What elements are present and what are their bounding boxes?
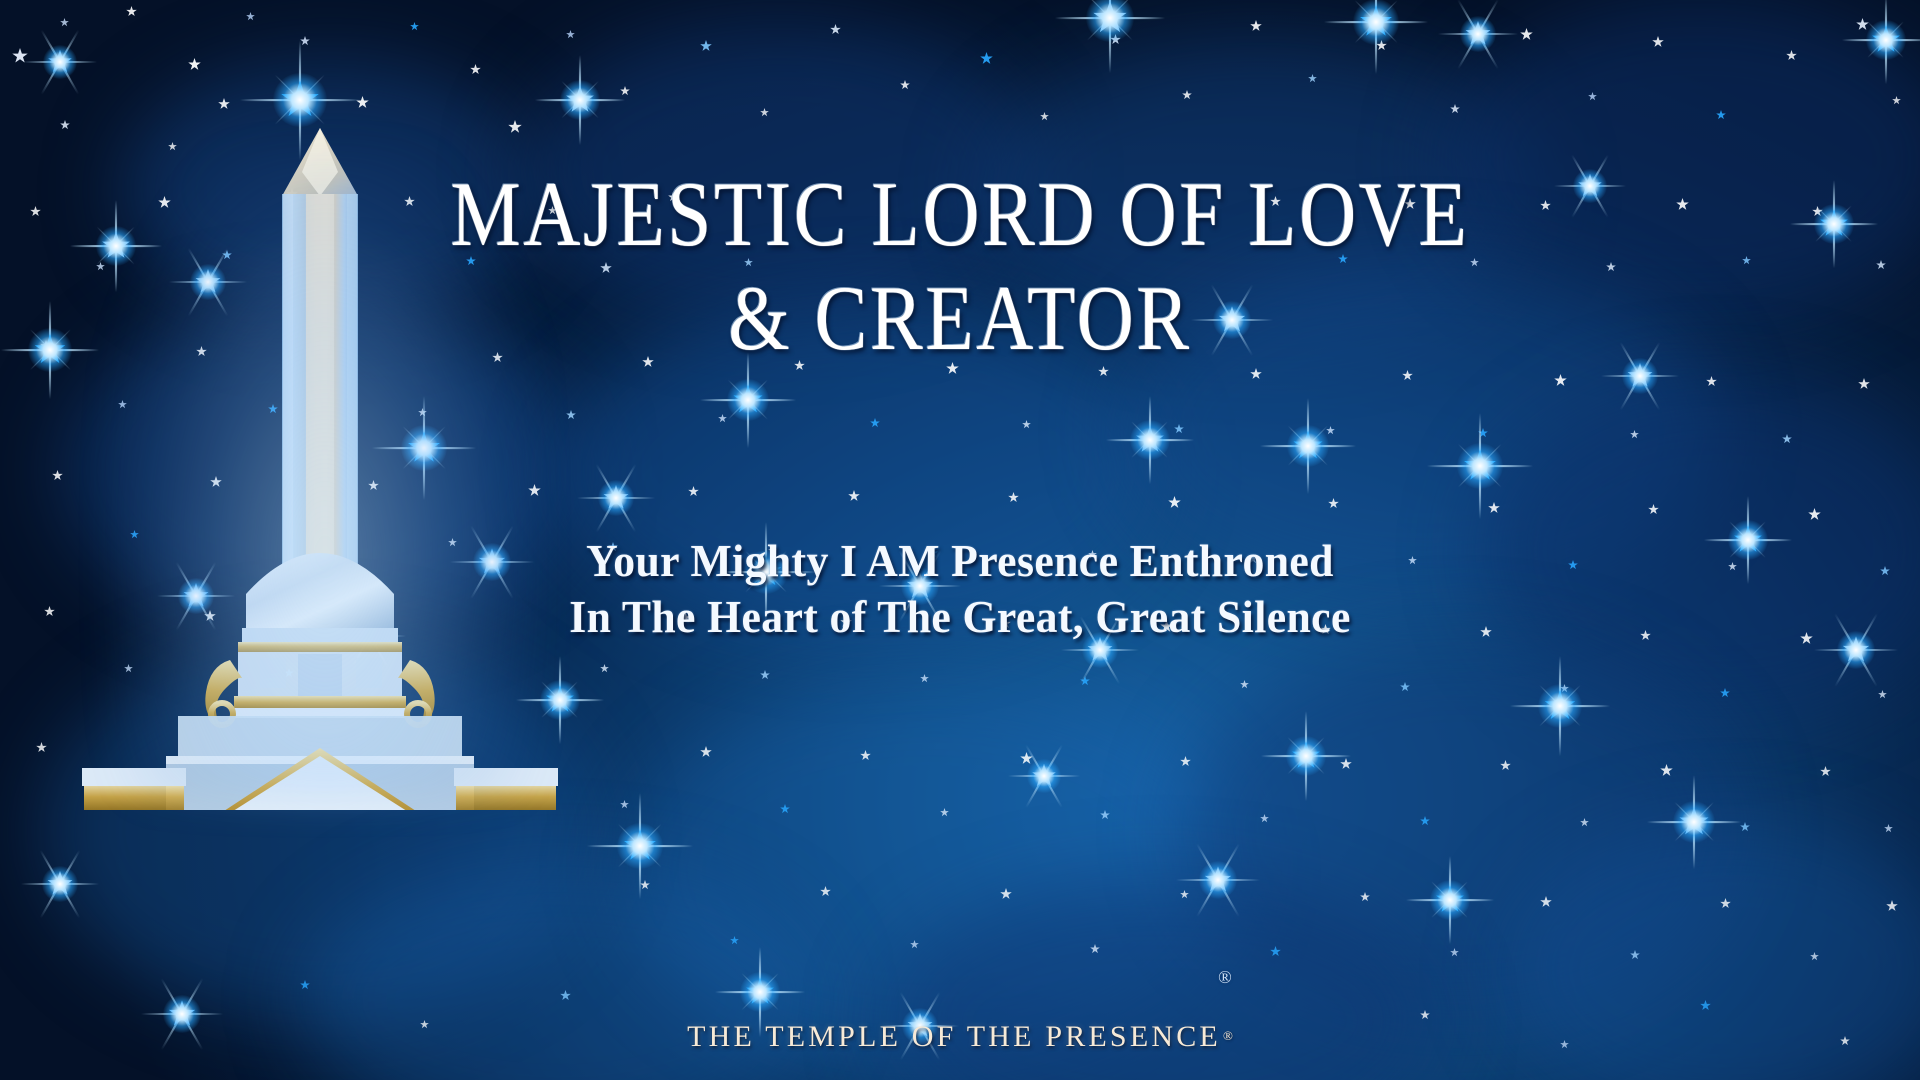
star-glyph xyxy=(1588,92,1597,101)
star-glyph xyxy=(1360,892,1370,902)
star-glyph xyxy=(1858,378,1870,390)
star-glyph xyxy=(1560,684,1569,693)
star-glyph xyxy=(1876,260,1886,270)
star-glyph xyxy=(700,40,712,52)
sparkle-star-icon xyxy=(1647,775,1741,869)
star-glyph xyxy=(12,48,28,64)
star-glyph xyxy=(36,742,47,753)
star-glyph xyxy=(700,746,712,758)
sparkle-star-icon xyxy=(1438,0,1518,74)
star-glyph xyxy=(620,86,630,96)
star-glyph xyxy=(1660,764,1673,777)
star-glyph xyxy=(508,120,522,134)
star-glyph xyxy=(284,668,294,678)
sparkle-star-icon xyxy=(372,396,476,500)
star-glyph xyxy=(1488,502,1500,514)
sparkle-star-icon xyxy=(516,656,604,744)
star-glyph xyxy=(1022,420,1031,429)
sparkle-star-icon xyxy=(1008,740,1080,812)
star-glyph xyxy=(760,108,769,117)
star-glyph xyxy=(418,408,427,417)
star-glyph xyxy=(1308,74,1317,83)
star-glyph xyxy=(356,96,369,109)
sparkle-star-icon xyxy=(1261,711,1351,801)
star-glyph xyxy=(60,18,69,27)
star-glyph xyxy=(760,670,770,680)
star-glyph xyxy=(848,490,860,502)
star-glyph xyxy=(940,808,949,817)
banner-canvas: MAJESTIC LORD OF LOVE & CREATOR Your Mig… xyxy=(0,0,1920,1080)
star-glyph xyxy=(1892,96,1901,105)
star-glyph xyxy=(96,262,105,271)
star-glyph xyxy=(1000,888,1012,900)
star-glyph xyxy=(1450,104,1460,114)
star-glyph xyxy=(560,990,571,1001)
nebula-blob xyxy=(620,680,1240,1060)
sparkle-star-icon xyxy=(1510,656,1610,756)
star-glyph xyxy=(126,6,137,17)
star-glyph xyxy=(1500,760,1511,771)
star-glyph xyxy=(566,410,576,420)
star-glyph xyxy=(1090,944,1100,954)
star-glyph xyxy=(1720,688,1730,698)
star-glyph xyxy=(870,418,880,428)
sparkle-star-icon xyxy=(1260,398,1356,494)
star-glyph xyxy=(1420,816,1430,826)
brand-name-text: THE TEMPLE OF THE PRESENCE xyxy=(687,1020,1221,1054)
star-glyph xyxy=(1820,766,1831,777)
star-glyph xyxy=(118,400,127,409)
star-glyph xyxy=(1100,810,1110,820)
registered-trademark-mark: ® xyxy=(1213,965,1237,989)
star-glyph xyxy=(168,142,177,151)
sparkle-star-icon xyxy=(1106,396,1194,484)
star-glyph xyxy=(1648,504,1659,515)
star-glyph xyxy=(1706,376,1717,387)
sparkle-star-icon xyxy=(535,55,625,145)
star-glyph xyxy=(1700,1000,1711,1011)
star-glyph xyxy=(1260,814,1269,823)
star-glyph xyxy=(1376,40,1387,51)
subtitle-line-1: Your Mighty I AM Presence Enthroned xyxy=(48,538,1872,584)
star-glyph xyxy=(30,206,41,217)
star-glyph xyxy=(218,98,230,110)
star-glyph xyxy=(1008,492,1019,503)
star-glyph xyxy=(1240,680,1249,689)
star-glyph xyxy=(1402,370,1413,381)
star-glyph xyxy=(718,414,727,423)
star-glyph xyxy=(1478,428,1488,438)
star-glyph xyxy=(1812,206,1823,217)
star-glyph xyxy=(188,58,201,71)
star-glyph xyxy=(1270,946,1281,957)
temple-right-wing xyxy=(446,768,564,810)
temple-main-block xyxy=(166,716,474,810)
star-glyph xyxy=(268,404,278,414)
star-glyph xyxy=(40,340,52,352)
sparkle-star-icon xyxy=(1842,0,1920,84)
sparkle-star-icon xyxy=(23,25,97,99)
nebula-blob xyxy=(1180,640,1740,1020)
star-glyph xyxy=(1740,822,1750,832)
star-glyph xyxy=(1250,368,1262,380)
star-glyph xyxy=(830,24,841,35)
star-glyph xyxy=(1630,950,1640,960)
star-glyph xyxy=(124,664,133,673)
star-glyph xyxy=(1810,952,1819,961)
brand-lockup: THE TEMPLE OF THE PRESENCE® xyxy=(0,1020,1920,1054)
star-glyph xyxy=(688,486,699,497)
star-glyph xyxy=(300,36,310,46)
star-glyph xyxy=(1182,90,1192,100)
star-glyph xyxy=(52,470,63,481)
sparkle-star-icon xyxy=(1176,838,1260,922)
star-glyph xyxy=(1020,752,1033,765)
sparkle-star-icon xyxy=(1055,0,1165,73)
star-glyph xyxy=(1856,18,1869,31)
temple-left-wing xyxy=(76,768,194,810)
star-glyph xyxy=(1606,262,1616,272)
star-glyph xyxy=(566,30,575,39)
star-glyph xyxy=(980,52,993,65)
sparkle-star-icon xyxy=(1790,180,1878,268)
star-glyph xyxy=(1328,498,1339,509)
star-glyph xyxy=(1450,948,1459,957)
star-glyph xyxy=(910,940,919,949)
star-glyph xyxy=(1250,20,1262,32)
sparkle-star-icon xyxy=(21,845,99,923)
star-glyph xyxy=(1110,34,1121,45)
star-glyph xyxy=(528,484,541,497)
star-glyph xyxy=(1326,426,1335,435)
star-glyph xyxy=(1180,890,1189,899)
star-glyph xyxy=(1040,112,1049,121)
sparkle-star-icon xyxy=(577,459,655,537)
star-glyph xyxy=(780,804,790,814)
star-glyph xyxy=(470,64,481,75)
sparkle-star-icon xyxy=(587,793,693,899)
star-glyph xyxy=(1720,898,1731,909)
star-glyph xyxy=(300,980,310,990)
headline-line-1: MAJESTIC LORD OF LOVE xyxy=(134,168,1785,260)
star-glyph xyxy=(640,880,650,890)
star-glyph xyxy=(1580,818,1589,827)
star-glyph xyxy=(1786,50,1797,61)
star-glyph xyxy=(1878,690,1887,699)
star-glyph xyxy=(1884,824,1893,833)
star-glyph xyxy=(730,936,739,945)
star-glyph xyxy=(1174,424,1184,434)
star-glyph xyxy=(1808,508,1821,521)
star-glyph xyxy=(1340,758,1352,770)
star-glyph xyxy=(920,674,929,683)
subtitle-line-2: In The Heart of The Great, Great Silence xyxy=(48,594,1872,640)
brand-registered-mark: ® xyxy=(1223,1028,1233,1044)
star-glyph xyxy=(410,22,419,31)
sparkle-star-icon xyxy=(1427,413,1533,519)
sparkle-star-icon xyxy=(240,40,360,160)
star-glyph xyxy=(210,476,222,488)
star-glyph xyxy=(1520,28,1533,41)
star-glyph xyxy=(1630,430,1639,439)
star-glyph xyxy=(1400,682,1410,692)
star-glyph xyxy=(1420,1010,1430,1020)
star-glyph xyxy=(900,80,910,90)
star-glyph xyxy=(820,886,831,897)
star-glyph xyxy=(1782,434,1792,444)
nebula-blob xyxy=(40,640,600,1020)
sparkle-star-icon xyxy=(1324,0,1428,74)
star-glyph xyxy=(1716,110,1726,120)
star-glyph xyxy=(600,664,609,673)
star-glyph xyxy=(860,750,871,761)
star-glyph xyxy=(1168,496,1181,509)
temple-portico xyxy=(182,748,458,810)
star-glyph xyxy=(1540,896,1552,908)
sparkle-star-icon xyxy=(1406,856,1494,944)
star-glyph xyxy=(1652,36,1664,48)
star-glyph xyxy=(1886,900,1898,912)
star-glyph xyxy=(60,120,70,130)
star-glyph xyxy=(368,480,379,491)
star-glyph xyxy=(246,12,255,21)
star-glyph xyxy=(1880,566,1890,576)
sparkle-star-icon xyxy=(1,301,99,399)
star-glyph xyxy=(1180,756,1191,767)
star-glyph xyxy=(1080,676,1090,686)
headline-line-2: & CREATOR xyxy=(134,272,1785,364)
star-glyph xyxy=(620,800,629,809)
star-glyph xyxy=(1554,374,1567,387)
